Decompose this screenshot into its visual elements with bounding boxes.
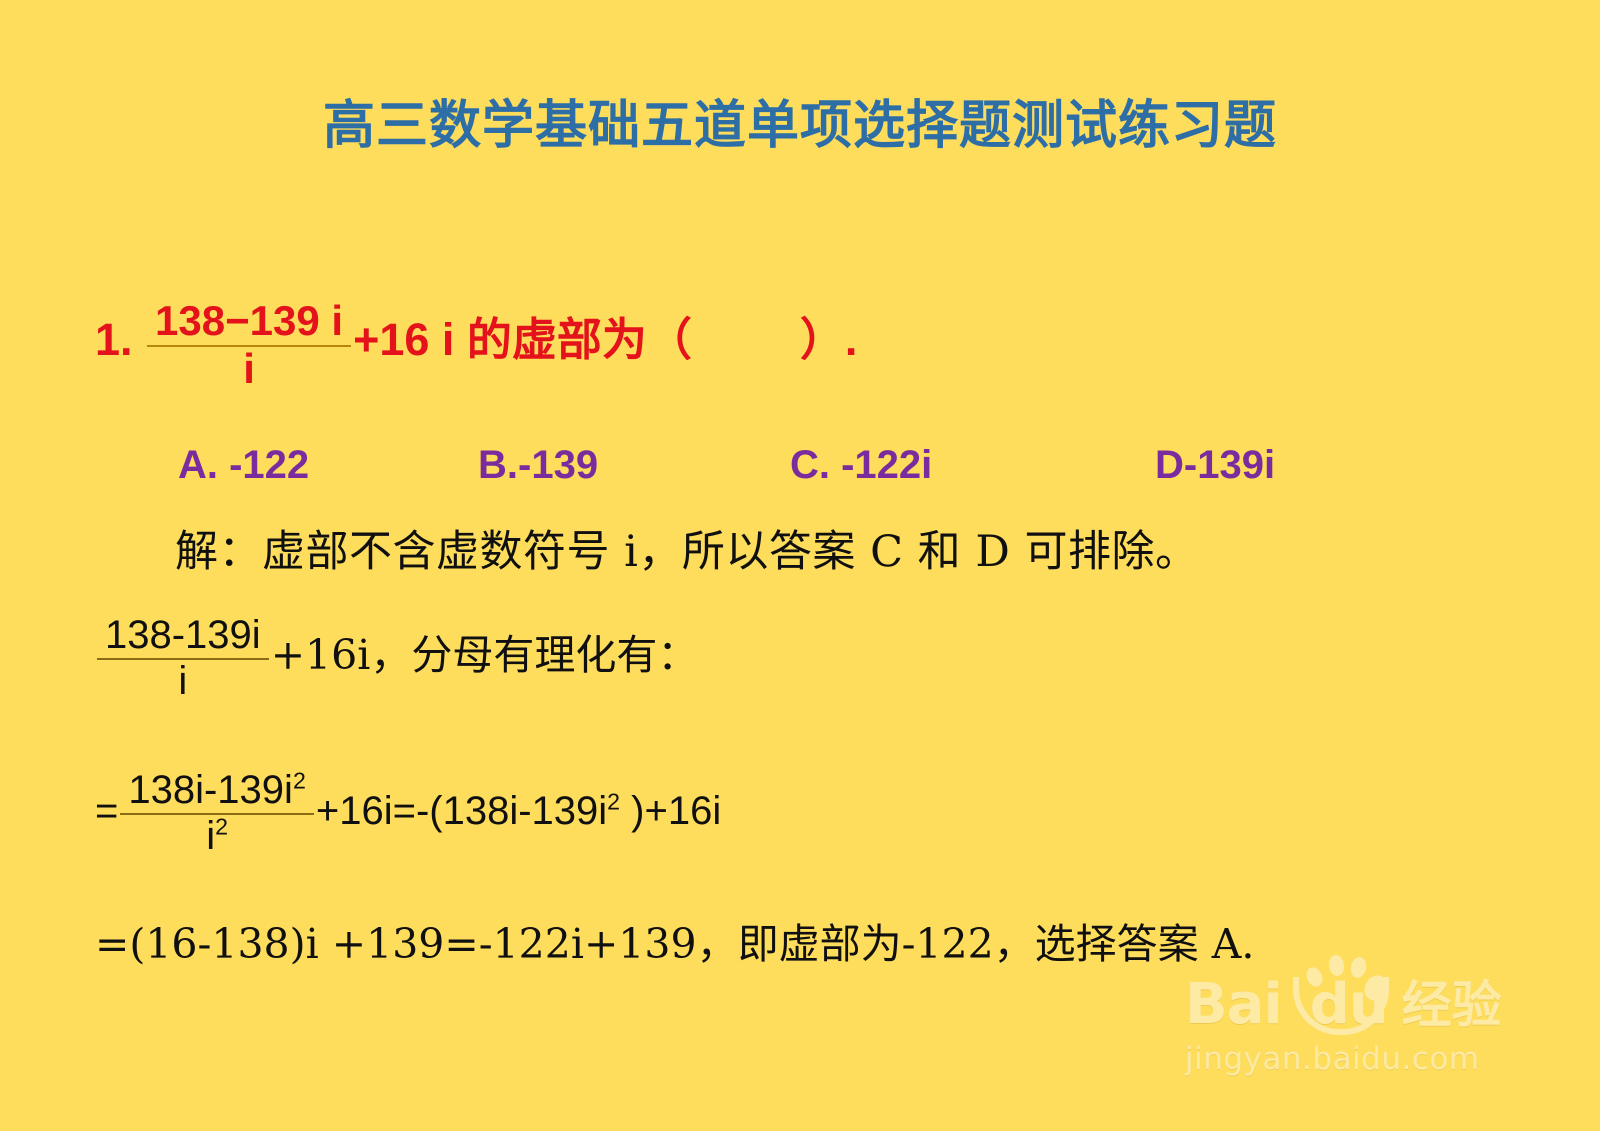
solution-line-3-suffix: )+16i (620, 789, 721, 833)
fraction-numerator-exponent: 2 (293, 768, 306, 794)
page-title: 高三数学基础五道单项选择题测试练习题 (0, 98, 1600, 155)
option-d[interactable]: D-139i (1155, 443, 1315, 488)
solution-line-3-mid: +16i=-(138i-139i (316, 789, 607, 833)
baidu-bear-paw-ring-icon (1293, 977, 1389, 1035)
baidu-logo: Bai du 经验 (1185, 965, 1515, 1037)
fraction-denominator: i (97, 660, 269, 702)
solution-line-2: 138-139i i +16i，分母有理化有： (95, 615, 698, 702)
solution-line-2-text: +16i，分母有理化有： (271, 631, 699, 679)
fraction-numerator: 138−139 i (147, 300, 351, 344)
baidu-wordmark-du: du (1310, 972, 1388, 1037)
question-text-before-blank: +16 i 的虚部为（ (353, 314, 692, 365)
fraction-denominator-base: i (206, 814, 215, 858)
solution-fraction-2: 138i-139i2 i2 (120, 770, 313, 857)
fraction-numerator: 138-139i (97, 615, 269, 657)
fraction-numerator: 138i-139i2 (120, 770, 313, 812)
solution-line-3-exponent: 2 (607, 789, 620, 815)
fraction-denominator-exponent: 2 (215, 813, 228, 839)
baidu-wordmark-jingyan: 经验 (1402, 965, 1502, 1037)
option-a[interactable]: A. -122 (178, 443, 478, 488)
question-fraction: 138−139 i i (147, 300, 351, 391)
baidu-jingyan-watermark: Bai du 经验 jingyan.baidu.com (1185, 965, 1515, 1095)
fraction-numerator-base: 138i-139i (128, 768, 293, 812)
watermark-url: jingyan.baidu.com (1185, 1041, 1515, 1077)
option-b[interactable]: B.-139 (478, 443, 790, 488)
baidu-wordmark-bai: Bai (1185, 972, 1282, 1037)
fraction-denominator: i2 (120, 815, 313, 857)
solution-fraction-1: 138-139i i (97, 615, 269, 702)
option-list: A. -122B.-139C. -122iD-139i (178, 443, 1408, 488)
equals-sign: = (95, 789, 118, 833)
paw-print-icon (1303, 951, 1385, 1011)
solution-line-1: 解：虚部不含虚数符号 i，所以答案 C 和 D 可排除。 (175, 517, 1198, 579)
solution-line-3: = 138i-139i2 i2 +16i=-(138i-139i2 )+16i (95, 770, 721, 857)
question-number: 1. (95, 314, 133, 365)
slide-canvas: 高三数学基础五道单项选择题测试练习题 1. 138−139 i i +16 i … (0, 0, 1600, 1131)
solution-line-4: =(16-138)i +139=-122i+139，即虚部为-122，选择答案 … (95, 910, 1254, 970)
question-text-after-blank: ）. (800, 314, 858, 365)
option-c[interactable]: C. -122i (790, 443, 1155, 488)
question-1: 1. 138−139 i i +16 i 的虚部为（）. (95, 300, 857, 391)
solution-line-4-text: =(16-138)i +139=-122i+139，即虚部为-122，选择答案 … (95, 920, 1254, 968)
fraction-denominator: i (147, 347, 351, 391)
